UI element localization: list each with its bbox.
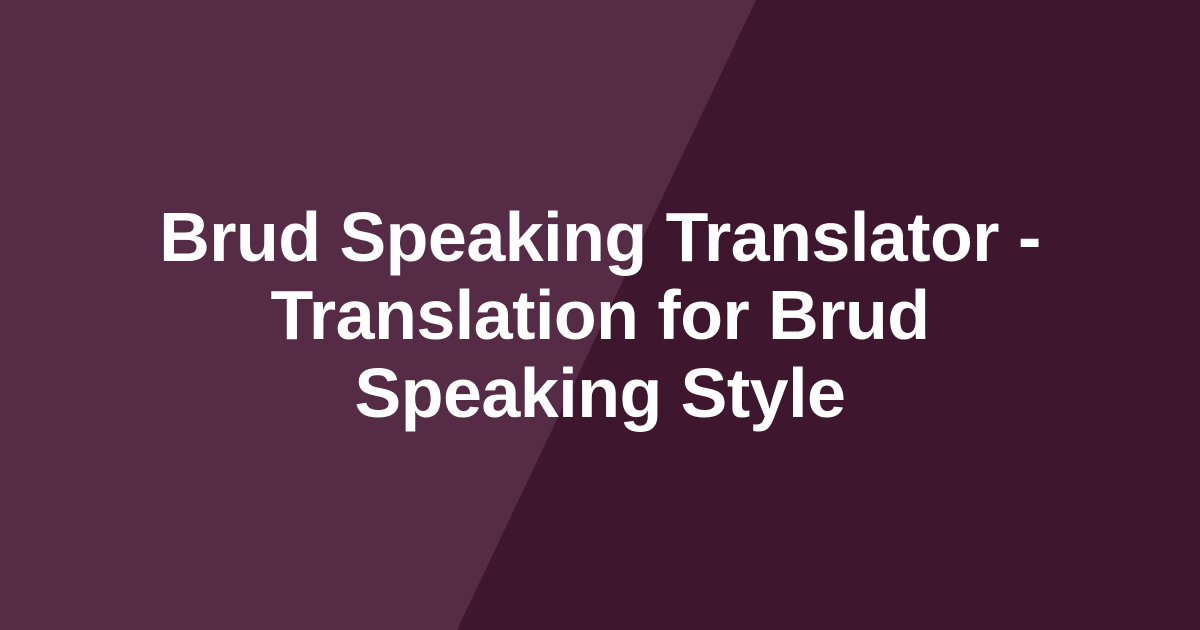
title-container: Brud Speaking Translator - Translation f… bbox=[0, 0, 1200, 630]
page-title: Brud Speaking Translator - Translation f… bbox=[135, 198, 1065, 432]
social-share-card: Brud Speaking Translator - Translation f… bbox=[0, 0, 1200, 630]
